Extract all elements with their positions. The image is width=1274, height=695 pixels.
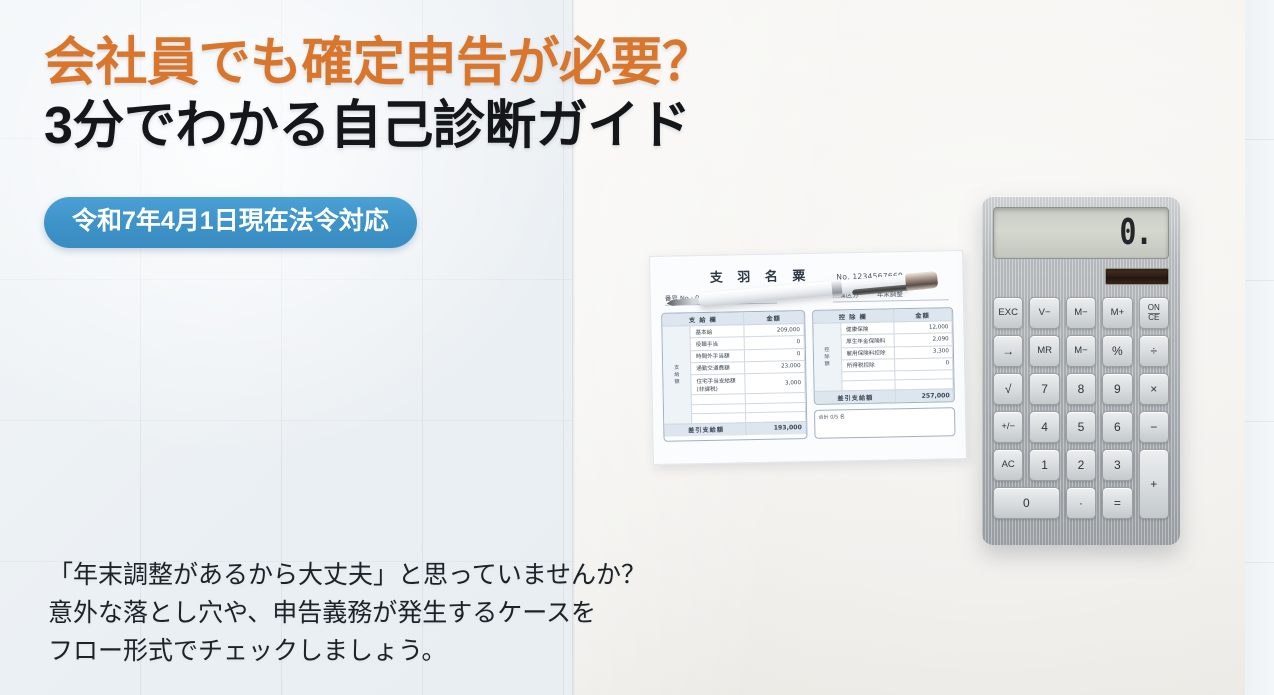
table-cell-label: 通勤交通費額 xyxy=(691,361,746,374)
calculator-key-m[interactable]: M+ xyxy=(1102,297,1132,329)
headline-line-2: 3分でわかる自己診断ガイド xyxy=(44,97,604,156)
payslip-note: 合計 0/5 名 xyxy=(814,407,956,439)
pen-ring xyxy=(831,279,842,297)
table-cell-amount: 23,000 xyxy=(745,360,804,373)
calculator-keypad: EXCV−M−M+ONCE→MRM−%÷√789×+/−456−AC123+0·… xyxy=(993,297,1169,519)
earnings-total-amount: 193,000 xyxy=(746,421,805,435)
calculator-key-[interactable]: · xyxy=(1066,487,1096,519)
calculator-key-exc[interactable]: EXC xyxy=(993,297,1023,329)
calculator-key-[interactable]: +/− xyxy=(993,411,1023,443)
calculator-key-[interactable]: + xyxy=(1139,449,1169,519)
hero-banner: 支 羽 名 粟 No. 1234567669 番号 No : 012345678… xyxy=(0,0,1274,695)
calculator: 0. EXCV−M−M+ONCE→MRM−%÷√789×+/−456−AC123… xyxy=(982,196,1180,545)
headline-line-1: 会社員でも確定申告が必要？ xyxy=(44,34,604,93)
table-side-label: 控除額 xyxy=(813,323,842,391)
body-copy: 「年末調整があるから大丈夫」と思っていませんか？ 意外な落とし穴や、申告義務が発… xyxy=(48,556,648,670)
calculator-key-2[interactable]: 2 xyxy=(1066,449,1096,481)
table-cell-amount: 209,000 xyxy=(744,324,803,337)
table-cell-label: 所得税控除 xyxy=(841,359,894,372)
calculator-key-[interactable]: = xyxy=(1102,487,1132,519)
calculator-key-[interactable]: √ xyxy=(993,373,1023,405)
calculator-display-value: 0. xyxy=(1119,215,1151,251)
calculator-key-3[interactable]: 3 xyxy=(1102,449,1132,481)
payslip-tables: 支 給 欄 金額 支給額基本給209,000役職手当0時間外手当額0通勤交通費額… xyxy=(661,307,955,442)
deductions-total-amount: 257,000 xyxy=(895,389,954,403)
table-cell-amount: 3,300 xyxy=(894,345,953,358)
table-cell-label: 健康保険 xyxy=(840,322,893,335)
calculator-key-5[interactable]: 5 xyxy=(1066,411,1096,443)
table-cell-amount: 0 xyxy=(744,336,803,349)
table-cell-label: 住宅手当支給額(非課税) xyxy=(691,374,746,395)
calculator-display: 0. xyxy=(993,207,1169,259)
table-cell-label: 役職手当 xyxy=(690,337,745,350)
calculator-key-[interactable]: − xyxy=(1139,411,1169,443)
payslip-deductions-table: 控 除 欄 金額 控除額健康保険12,000厚生年金保険料2,090雇用保険料控… xyxy=(812,307,955,405)
pen-knock xyxy=(905,270,938,290)
copy-block: 会社員でも確定申告が必要？ 3分でわかる自己診断ガイド 令和7年4月1日現在法令… xyxy=(44,34,604,248)
solar-panel-icon xyxy=(1105,268,1169,285)
table-cell-amount: 0 xyxy=(745,348,804,361)
status-badge: 令和7年4月1日現在法令対応 xyxy=(44,197,417,249)
deductions-header-amount: 金額 xyxy=(893,308,952,322)
calculator-key-[interactable]: → xyxy=(993,335,1023,367)
table-cell-amount: 2,090 xyxy=(894,333,953,346)
calculator-key-4[interactable]: 4 xyxy=(1029,411,1059,443)
table-cell-amount: 12,000 xyxy=(893,321,952,334)
table-cell-label: 厚生年金保険料 xyxy=(841,334,894,347)
calculator-key-m[interactable]: M− xyxy=(1066,297,1096,329)
calculator-key-v[interactable]: V− xyxy=(1029,297,1059,329)
table-side-label: 支給額 xyxy=(662,326,691,424)
calculator-key-8[interactable]: 8 xyxy=(1066,373,1096,405)
calculator-key-m[interactable]: M− xyxy=(1066,335,1096,367)
right-edge-strip xyxy=(1245,0,1274,695)
calculator-key-0[interactable]: 0 xyxy=(993,487,1060,519)
calculator-key-[interactable]: % xyxy=(1102,335,1132,367)
table-cell-label: 時間外手当額 xyxy=(690,349,745,362)
table-cell-amount: 3,000 xyxy=(745,373,805,394)
table-cell-amount: 0 xyxy=(894,357,953,370)
payslip-earnings-table: 支 給 欄 金額 支給額基本給209,000役職手当0時間外手当額0通勤交通費額… xyxy=(661,310,807,442)
calculator-key-9[interactable]: 9 xyxy=(1102,373,1132,405)
table-cell-label: 雇用保険料控除 xyxy=(841,346,894,359)
pen-tip xyxy=(666,297,702,307)
body-line-1: 「年末調整があるから大丈夫」と思っていませんか？ xyxy=(48,556,648,594)
body-line-3: フロー形式でチェックしましょう。 xyxy=(48,632,648,670)
body-line-2: 意外な落とし穴や、申告義務が発生するケースを xyxy=(48,594,648,632)
calculator-key-7[interactable]: 7 xyxy=(1029,373,1059,405)
calculator-key-mr[interactable]: MR xyxy=(1029,335,1059,367)
calculator-key-once[interactable]: ONCE xyxy=(1139,297,1169,329)
calculator-key-[interactable]: × xyxy=(1139,373,1169,405)
calculator-key-ac[interactable]: AC xyxy=(993,449,1023,481)
page-title: 会社員でも確定申告が必要？ 3分でわかる自己診断ガイド xyxy=(44,34,604,157)
calculator-key-6[interactable]: 6 xyxy=(1102,411,1132,443)
deductions-total-label: 差引支給額 xyxy=(814,390,895,404)
earnings-header-amount: 金額 xyxy=(744,311,803,325)
calculator-key-1[interactable]: 1 xyxy=(1029,449,1059,481)
table-cell-label: 基本給 xyxy=(690,325,745,338)
calculator-key-[interactable]: ÷ xyxy=(1139,335,1169,367)
earnings-total-label: 差引支給額 xyxy=(664,422,746,436)
